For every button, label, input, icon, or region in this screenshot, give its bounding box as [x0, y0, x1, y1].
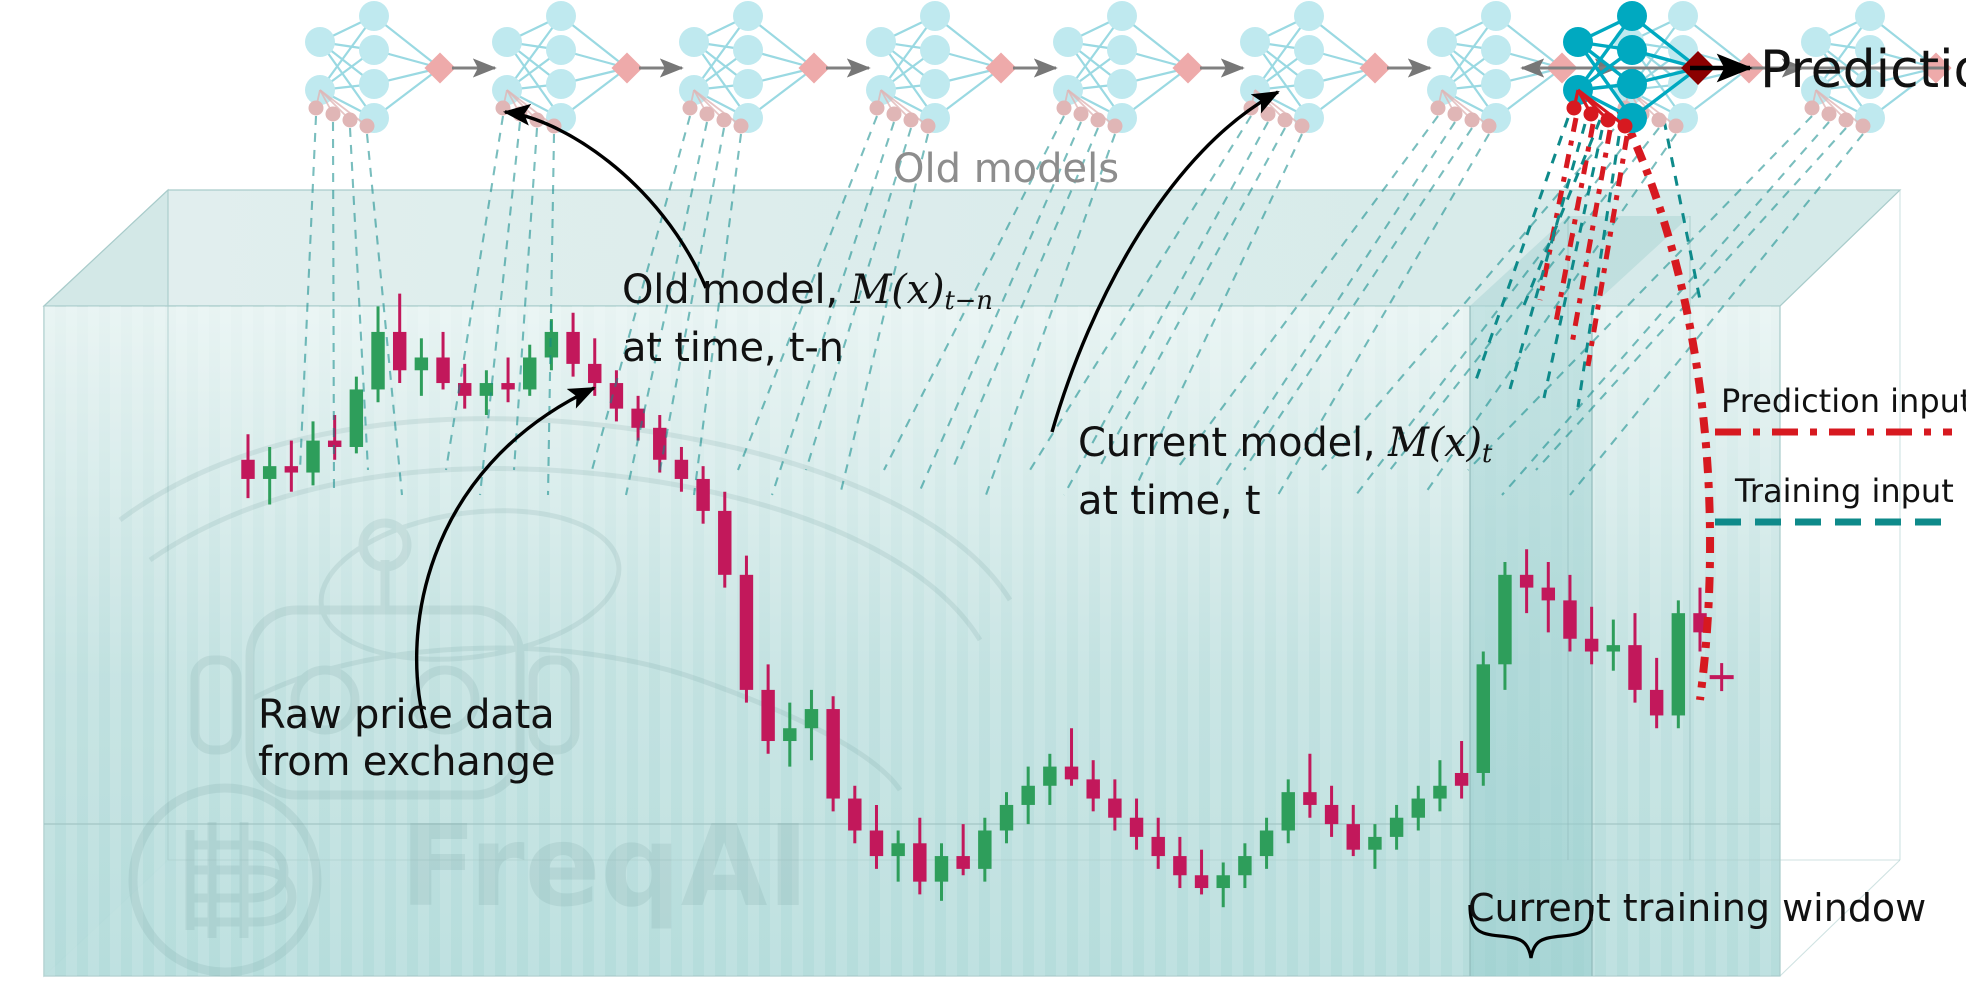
old-model-annotation: Old model, M(x)t−n at time, t-n	[622, 267, 993, 372]
candle-body	[826, 709, 839, 798]
training-window-front	[1470, 306, 1592, 976]
candle-body	[1390, 818, 1403, 837]
nn-input-node	[1805, 101, 1820, 116]
nn-output-diamond	[1172, 52, 1203, 83]
candle-body	[1520, 575, 1533, 588]
nn-node	[1855, 1, 1885, 31]
candle-body	[675, 460, 688, 479]
candle-body	[740, 575, 753, 690]
candle-body	[263, 466, 276, 479]
nn-input-node	[1669, 119, 1684, 134]
candle-body	[783, 728, 796, 741]
nn-node	[1617, 35, 1647, 65]
candle-body	[1498, 575, 1511, 664]
nn-output-diamond	[798, 52, 829, 83]
candle-body	[501, 383, 514, 389]
nn-input-node	[360, 119, 375, 134]
candle-body	[1021, 786, 1034, 805]
candle-body	[1303, 792, 1316, 805]
raw-price-annotation-line1: Raw price data	[258, 692, 555, 739]
candle-body	[1043, 767, 1056, 786]
nn-node	[1481, 35, 1511, 65]
candle-body	[1151, 837, 1164, 856]
nn-input-node	[1431, 101, 1446, 116]
nn-node	[920, 69, 950, 99]
candle-body	[415, 357, 428, 370]
candle-body	[631, 409, 644, 428]
nn-node	[1294, 1, 1324, 31]
nn-input-node	[717, 113, 732, 128]
nn-node	[1563, 27, 1593, 57]
nn-node	[920, 35, 950, 65]
old-models-label: Old models	[893, 146, 1119, 192]
candle-body	[848, 799, 861, 831]
nn-node	[733, 69, 763, 99]
candle-body	[241, 460, 254, 479]
nn-input-node	[1091, 113, 1106, 128]
nn-node	[359, 35, 389, 65]
nn-input-node	[921, 119, 936, 134]
nn-node	[1617, 1, 1647, 31]
candle-body	[870, 831, 883, 857]
nn-node	[1481, 69, 1511, 99]
old-model-network	[679, 1, 830, 134]
legend-label-training-input: Training input	[1735, 472, 1954, 510]
nn-input-node	[1465, 113, 1480, 128]
candle-body	[913, 843, 926, 881]
candle-body	[566, 332, 579, 364]
nn-node	[733, 35, 763, 65]
candle-body	[1650, 690, 1663, 716]
candle-body	[1217, 875, 1230, 888]
candle-body	[1412, 799, 1425, 818]
nn-input-node	[870, 101, 885, 116]
candle-body	[935, 856, 948, 882]
nn-node	[679, 27, 709, 57]
nn-node	[1107, 1, 1137, 31]
candle-body	[1000, 805, 1013, 831]
nn-node	[866, 27, 896, 57]
candle-body	[696, 479, 709, 511]
nn-node	[492, 27, 522, 57]
nn-input-node	[1652, 113, 1667, 128]
nn-node	[1481, 1, 1511, 31]
candle-body	[350, 389, 363, 447]
nn-output-diamond	[985, 52, 1016, 83]
candle-body	[523, 357, 536, 389]
current-model-annotation: Current model, M(x)t at time, t	[1078, 420, 1492, 525]
old-model-annotation-line1: Old model, M(x)t−n	[622, 267, 993, 325]
old-model-network	[866, 1, 1017, 134]
old-model-network	[305, 1, 456, 134]
candle-body	[1607, 645, 1620, 651]
old-model-network	[1053, 1, 1204, 134]
nn-input-node	[1856, 119, 1871, 134]
nn-output-diamond	[611, 52, 642, 83]
candle-body	[1195, 875, 1208, 888]
legend-label-prediction-input: Prediction input	[1721, 382, 1966, 420]
nn-input-node	[1839, 113, 1854, 128]
nn-node	[1427, 27, 1457, 57]
candle-body	[805, 709, 818, 728]
candle-body	[1260, 831, 1273, 857]
candle-body	[1108, 799, 1121, 818]
nn-input-node	[1278, 113, 1293, 128]
candle-body	[891, 843, 904, 856]
candle-body	[1455, 773, 1468, 786]
candle-body	[306, 441, 319, 473]
nn-input-node	[343, 113, 358, 128]
candle-body	[1347, 824, 1360, 850]
nn-node	[1107, 69, 1137, 99]
nn-node	[546, 69, 576, 99]
candle-body	[978, 831, 991, 869]
candle-body	[1672, 613, 1685, 715]
candle-body	[761, 690, 774, 741]
nn-node	[359, 69, 389, 99]
candle-body	[1238, 856, 1251, 875]
nn-input-node	[1108, 119, 1123, 134]
nn-node	[1617, 69, 1647, 99]
candle-body	[371, 332, 384, 390]
nn-node	[1053, 27, 1083, 57]
current-training-window-label: Current training window	[1468, 886, 1926, 930]
nn-node	[359, 1, 389, 31]
candle-body	[1433, 786, 1446, 799]
candle-body	[285, 466, 298, 472]
candle-body	[1065, 767, 1078, 780]
candle-body	[1628, 645, 1641, 690]
nn-node	[1294, 35, 1324, 65]
old-model-network	[1240, 1, 1391, 134]
raw-price-annotation: Raw price data from exchange	[258, 692, 555, 786]
nn-input-node	[734, 119, 749, 134]
current-model-annotation-line2: at time, t	[1078, 478, 1492, 525]
nn-node	[1240, 27, 1270, 57]
nn-output-diamond	[1359, 52, 1390, 83]
candle-body	[1585, 639, 1598, 652]
nn-node	[546, 1, 576, 31]
nn-node	[1107, 35, 1137, 65]
candle-body	[436, 357, 449, 383]
nn-input-node	[1567, 101, 1582, 116]
candle-body	[1368, 837, 1381, 850]
nn-input-node	[904, 113, 919, 128]
candle-body	[653, 428, 666, 460]
nn-node	[546, 35, 576, 65]
current-model-annotation-line1: Current model, M(x)t	[1078, 420, 1492, 478]
candle-body	[1086, 779, 1099, 798]
nn-input-node	[1482, 119, 1497, 134]
candle-body	[588, 364, 601, 383]
candle-body	[1563, 600, 1576, 638]
nn-node	[1668, 1, 1698, 31]
nn-node	[920, 1, 950, 31]
diagram-canvas: FreqAI Old	[0, 0, 1966, 981]
nn-input-node	[683, 101, 698, 116]
watermark-wordmark: FreqAI	[400, 802, 809, 932]
nn-output-diamond	[424, 52, 455, 83]
candle-body	[1282, 792, 1295, 830]
nn-input-node	[309, 101, 324, 116]
raw-price-annotation-line2: from exchange	[258, 739, 555, 786]
candle-body	[1130, 818, 1143, 837]
nn-input-node	[1295, 119, 1310, 134]
nn-node	[305, 27, 335, 57]
candle-body	[1542, 588, 1555, 601]
nn-node	[733, 1, 763, 31]
nn-input-node	[1618, 119, 1633, 134]
candle-body	[1173, 856, 1186, 875]
nn-input-node	[1057, 101, 1072, 116]
candle-body	[1477, 664, 1490, 773]
old-model-annotation-line2: at time, t-n	[622, 325, 993, 372]
candle-body	[956, 856, 969, 869]
prediction-label: Prediction	[1760, 40, 1966, 100]
candle-body	[718, 511, 731, 575]
candle-body	[1325, 805, 1338, 824]
nn-node	[1294, 69, 1324, 99]
candle-body	[393, 332, 406, 370]
